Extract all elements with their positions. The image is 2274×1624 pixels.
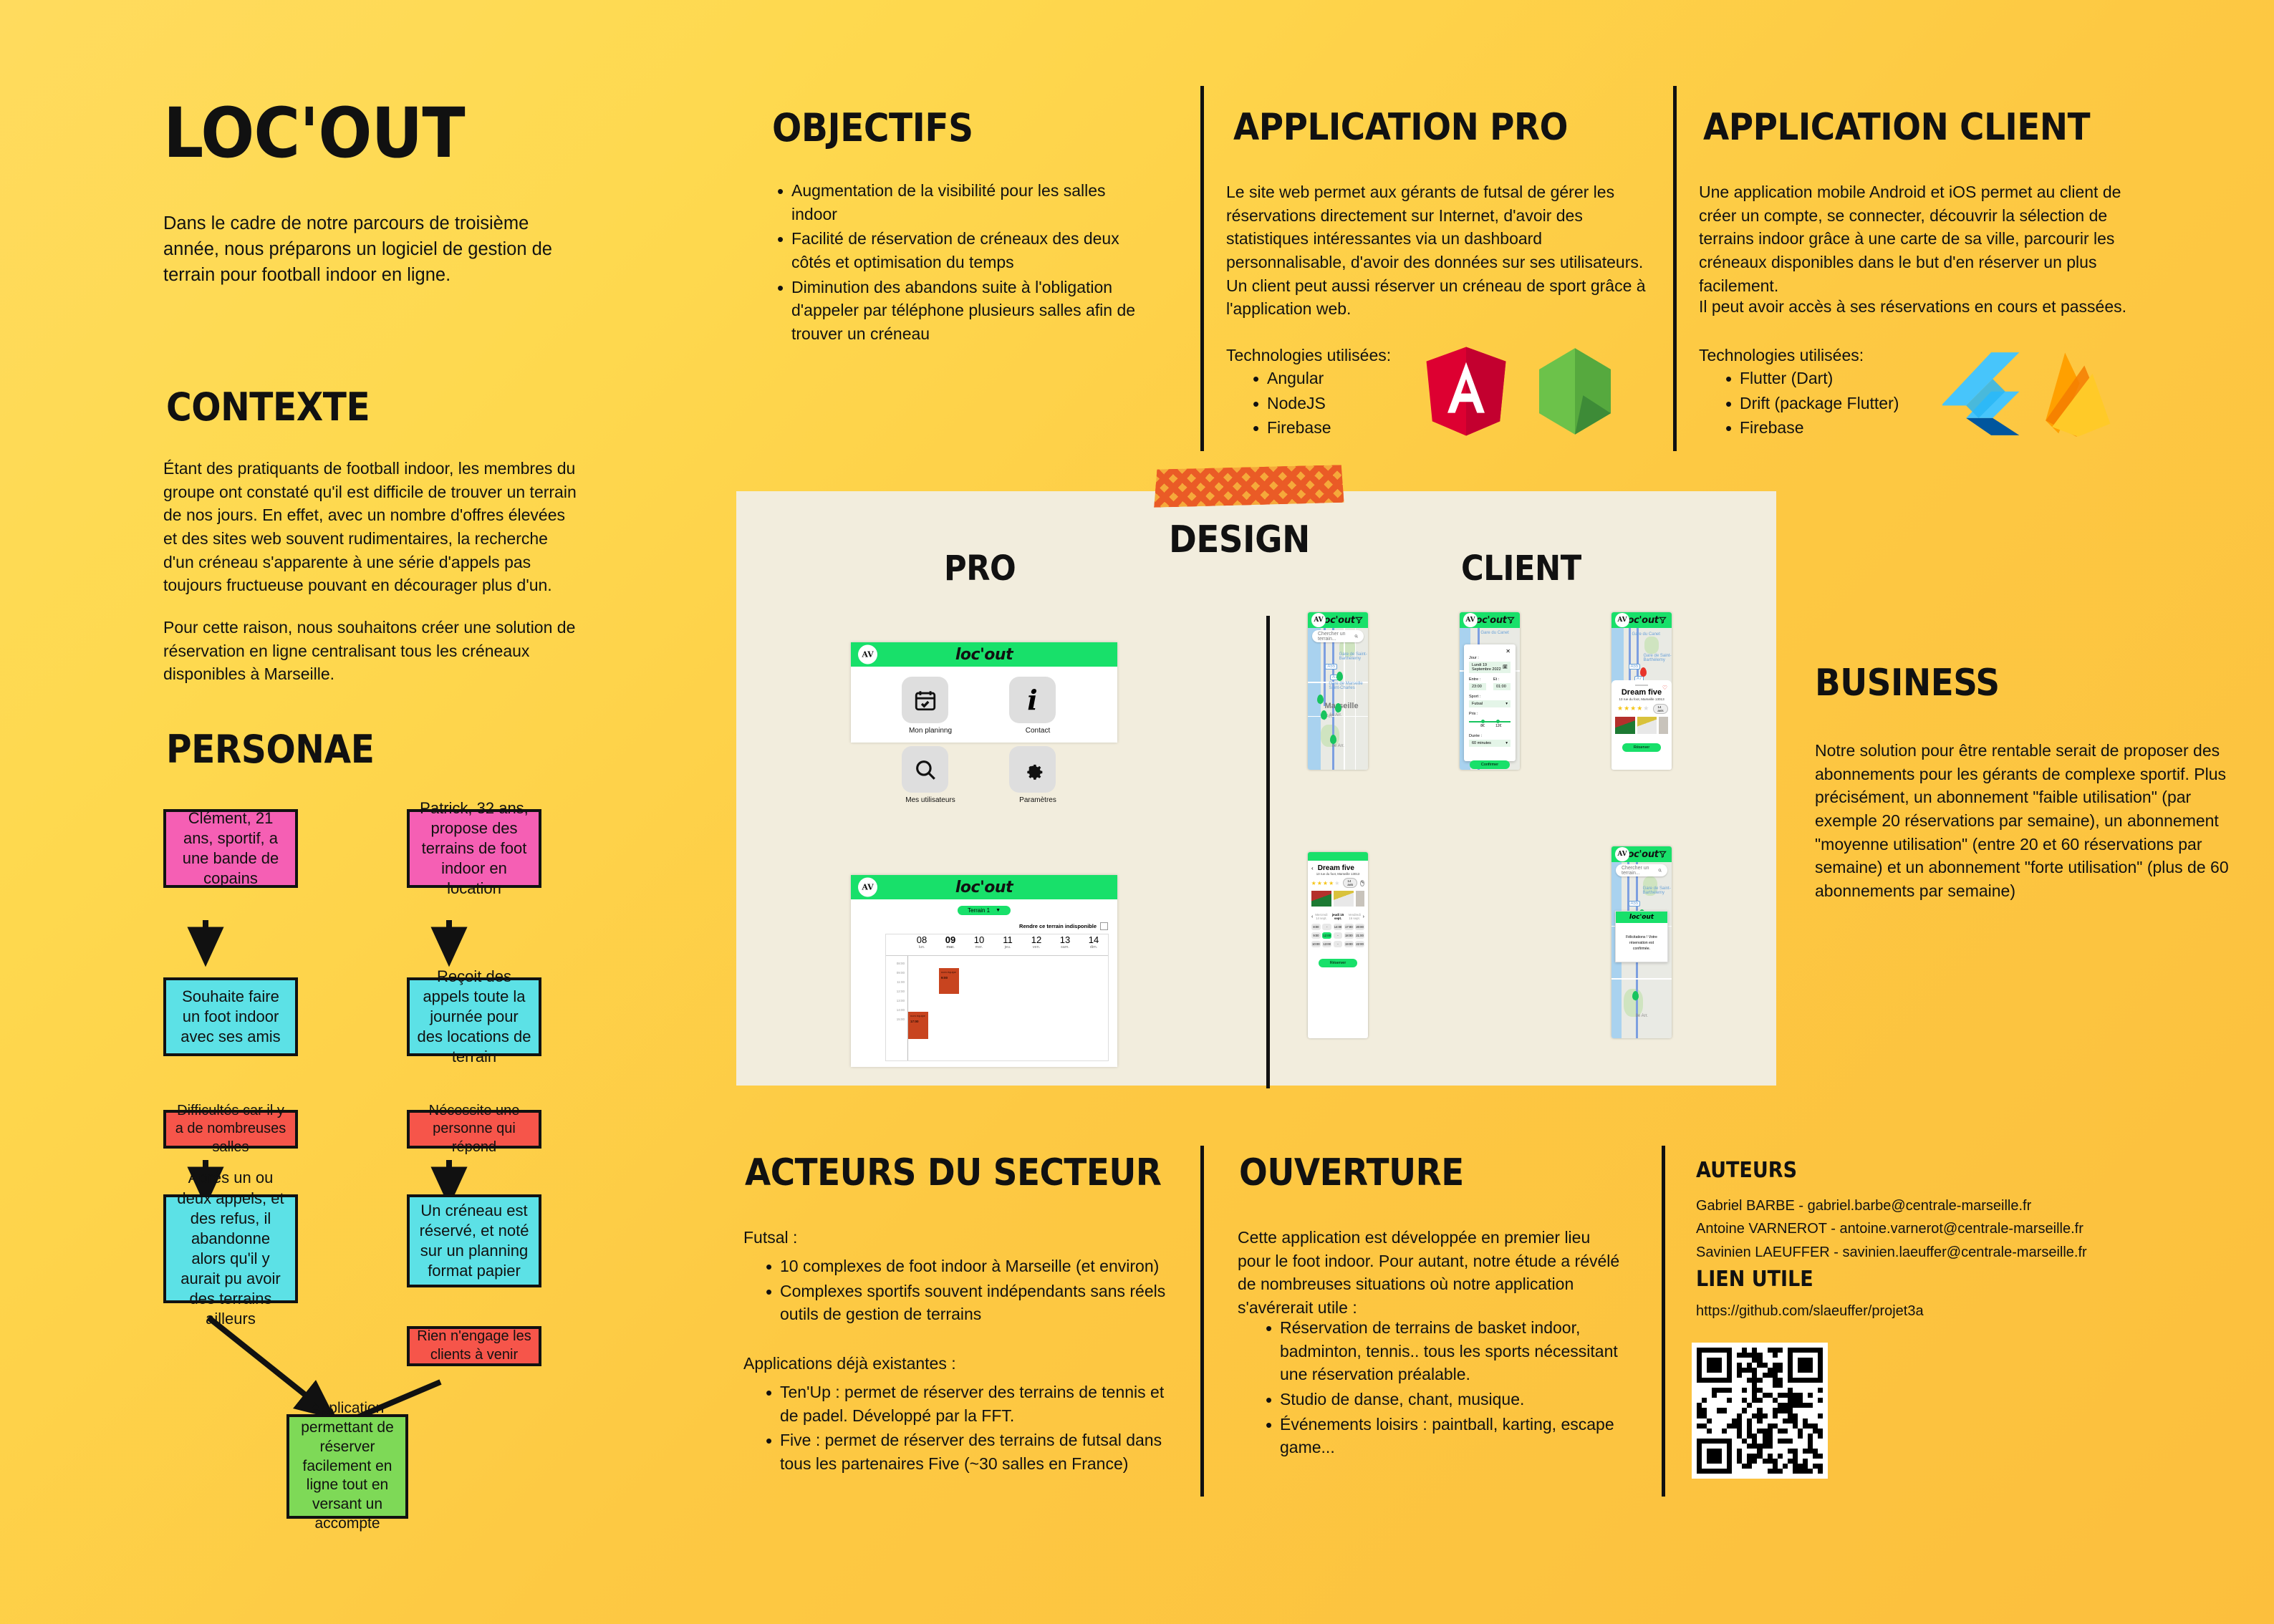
application-client-paragraph: Une application mobile Android et iOS pe…: [1699, 180, 2129, 297]
venue-book-button[interactable]: Réserver: [1622, 743, 1661, 752]
chevron-tape-decoration: [1151, 465, 1344, 508]
search-icon: [1658, 868, 1662, 873]
planning-event[interactable]: nom équipe 9:00: [939, 968, 959, 994]
filter-day-value: Lundi 19 Septembre 2022: [1472, 663, 1503, 672]
slot-button[interactable]: 17:00: [1344, 924, 1354, 930]
author-item: Savinien LAEUFFER - savinien.laeuffer@ce…: [1696, 1241, 2087, 1264]
planning-day: 11 jeu.: [993, 934, 1022, 955]
acteurs-item: Five : permet de réserver des terrains d…: [761, 1429, 1176, 1475]
business-paragraph: Notre solution pour être rentable serait…: [1815, 739, 2237, 903]
terrain-select[interactable]: Terrain 1 ▼: [958, 906, 1011, 915]
next-day-icon[interactable]: ›: [1363, 914, 1364, 919]
slots-day-selected[interactable]: jeudi 15 sept.: [1329, 913, 1346, 920]
ouverture-paragraph: Cette application est développée en prem…: [1238, 1226, 1624, 1320]
filter-and-label: Et :: [1493, 677, 1511, 682]
venue-photo[interactable]: [1659, 717, 1668, 734]
ouverture-list: Réservation de terrains de basket indoor…: [1261, 1316, 1633, 1461]
pro-planning-appbar: AV loc'out: [851, 875, 1117, 899]
planning-day: 08 lun.: [907, 934, 936, 955]
slots-day[interactable]: Vendredi 16 sept.: [1346, 913, 1363, 920]
favorite-heart-icon[interactable]: ♡: [1662, 685, 1667, 691]
filter-dialog: ✕ Jour : Lundi 19 Septembre 2022 🗓 Entre…: [1464, 644, 1516, 761]
tile-label: Contact: [1009, 727, 1066, 735]
divider: [1673, 86, 1677, 451]
venue-photo[interactable]: [1615, 717, 1635, 734]
slot-button[interactable]: 19:00: [1344, 941, 1354, 947]
calendar-check-icon: [902, 677, 948, 723]
venue-name: Dream five: [1615, 688, 1668, 697]
slot-button[interactable]: 8:00: [1311, 924, 1321, 930]
client-appbar: AV loc'out: [1308, 612, 1368, 628]
application-client-tech-list: Flutter (Dart) Drift (package Flutter) F…: [1720, 367, 1957, 441]
pro-home-mockup: AV loc'out Mon planinng i Contact: [851, 642, 1117, 743]
tech-item: Firebase: [1720, 416, 1957, 440]
persona-box: Reçoit des appels toute la journée pour …: [407, 977, 541, 1056]
filter-day-input[interactable]: Lundi 19 Septembre 2022 🗓: [1469, 662, 1511, 673]
search-input[interactable]: Chercher un terrain...: [1616, 864, 1667, 876]
price-max: 12€: [1495, 724, 1501, 728]
star-rating-icon: ★★★★★: [1311, 880, 1341, 886]
poster-root: LOC'OUT Dans le cadre de notre parcours …: [0, 0, 2274, 1624]
slot-button[interactable]: 20:00: [1355, 924, 1364, 930]
business-heading: BUSINESS: [1815, 664, 2000, 702]
pro-tile-contact[interactable]: i Contact: [1009, 677, 1066, 735]
venue-photos: [1311, 891, 1364, 907]
page-title: LOC'OUT: [163, 99, 491, 168]
tech-item: Drift (package Flutter): [1720, 392, 1957, 415]
objectifs-heading: OBJECTIFS: [772, 109, 973, 148]
angular-logo-icon: [1424, 347, 1508, 436]
persona-box: Nécessite une personne qui répond: [407, 1110, 541, 1149]
avatar: AV: [1615, 847, 1629, 861]
divider: [1200, 1146, 1204, 1497]
filter-day-label: Jour :: [1469, 656, 1511, 660]
slots-day[interactable]: Mercredi 14 sept.: [1313, 913, 1329, 920]
chevron-down-icon: ▾: [1505, 702, 1508, 706]
persona-box: Rien n'engage les clients à venir: [407, 1326, 541, 1366]
acteurs-subheading-2: Applications déjà existantes :: [743, 1352, 956, 1376]
design-client-label: CLIENT: [1461, 551, 1581, 586]
slot-button[interactable]: 13:00: [1322, 941, 1331, 947]
acteurs-list-2: Ten'Up : permet de réserver des terrains…: [761, 1381, 1176, 1477]
persona-box: Un créneau est réservé, et noté sur un p…: [407, 1194, 541, 1287]
ouverture-heading: OUVERTURE: [1239, 1154, 1464, 1192]
client-appbar: AV loc'out: [1611, 612, 1672, 628]
pro-home-appbar: AV loc'out: [851, 642, 1117, 667]
dialog-title: loc'out: [1616, 912, 1667, 923]
divider: [1200, 86, 1204, 451]
auteurs-list: Gabriel BARBE - gabriel.barbe@centrale-m…: [1696, 1194, 2087, 1264]
price-slider[interactable]: 8€ 12€: [1469, 719, 1511, 726]
slot-button[interactable]: 9:00: [1311, 932, 1321, 939]
persona-outcome-box: Application permettant de réserver facil…: [286, 1414, 408, 1519]
persona-box: Après un ou deux appels, et des refus, i…: [163, 1194, 298, 1303]
filter-between-label: Entre :: [1469, 677, 1486, 682]
checkbox-label: Rendre ce terrain indisponible: [1019, 923, 1097, 929]
intro-paragraph: Dans le cadre de notre parcours de trois…: [163, 211, 579, 289]
slot-button[interactable]: 21:00: [1355, 932, 1364, 939]
slot-button[interactable]: -: [1334, 941, 1343, 947]
objectifs-list: Augmentation de la visibilité pour les s…: [772, 179, 1137, 347]
lien-utile-heading: LIEN UTILE: [1696, 1269, 1813, 1290]
venue-sheet: ♡ Dream five 13 rue du foot, Marseille 1…: [1611, 680, 1672, 770]
client-appbar: AV loc'out: [1460, 612, 1520, 628]
slots-grid: 8:00 - 14:00 17:00 20:00 9:00 12:00 - 18…: [1311, 924, 1364, 947]
acteurs-list-1: 10 complexes de foot indoor à Marseille …: [761, 1255, 1176, 1328]
map-pin[interactable]: [1321, 710, 1327, 720]
map-pin[interactable]: [1330, 735, 1336, 744]
application-client-paragraph-2: Il peut avoir accès à ses réservations e…: [1699, 295, 2143, 319]
map-pin-selected[interactable]: [1640, 667, 1647, 677]
planning-day: 10 mer.: [965, 934, 993, 955]
persona-box: Clément, 21 ans, sportif, a une bande de…: [163, 809, 298, 888]
app-logo: loc'out: [955, 646, 1013, 664]
filter-sport-select[interactable]: Futsal ▾: [1469, 700, 1511, 707]
flutter-logo-icon: [1942, 351, 2021, 437]
venue-reviews-badge[interactable]: 14 avis: [1653, 704, 1667, 714]
avatar: AV: [1463, 613, 1478, 627]
filter-confirm-button[interactable]: Confirmer: [1470, 760, 1510, 769]
venue-photo[interactable]: [1334, 891, 1354, 907]
planning-day: 13 sam.: [1051, 934, 1079, 955]
filter-icon[interactable]: [1659, 617, 1667, 624]
planning-day-header: 08 lun. 09 mar. 10 mer. 11 jeu.: [886, 934, 1108, 956]
terrain-select-value: Terrain 1: [968, 907, 990, 914]
filter-duration-label: Durée :: [1469, 734, 1511, 738]
slot-button[interactable]: 14:00: [1334, 924, 1343, 930]
chevron-down-icon: ▾: [1505, 741, 1508, 745]
client-venue-phone: AV loc'out Gare du Canet Gare de Saint-B…: [1611, 612, 1672, 770]
tile-label: Mon planinng: [902, 727, 959, 735]
slot-button[interactable]: 22:00: [1355, 941, 1364, 947]
calendar-icon: 🗓: [1503, 665, 1508, 670]
venue-photos: [1615, 717, 1668, 734]
filter-icon[interactable]: [1355, 617, 1363, 624]
design-heading: DESIGN: [1169, 521, 1310, 559]
persona-box: Difficultés car il y a de nombreuses sal…: [163, 1110, 298, 1149]
personae-heading: PERSONAE: [166, 730, 374, 769]
persona-box: Patrick, 32 ans, propose des terrains de…: [407, 809, 541, 888]
avatar: AV: [858, 878, 877, 897]
ouverture-item: Événements loisirs : paintball, karting,…: [1261, 1413, 1633, 1459]
ouverture-item: Studio de danse, chant, musique.: [1261, 1388, 1633, 1411]
chevron-down-icon: ▼: [996, 908, 1001, 913]
venue-photo[interactable]: [1311, 891, 1331, 907]
tech-item: Flutter (Dart): [1720, 367, 1957, 390]
filter-duration-value: 60 minutes: [1472, 741, 1491, 745]
app-logo: loc'out: [1624, 849, 1658, 860]
persona-box: Souhaite faire un foot indoor avec ses a…: [163, 977, 298, 1056]
price-min: 8€: [1480, 724, 1485, 728]
filter-duration-select[interactable]: 60 minutes ▾: [1469, 740, 1511, 747]
venue-photo[interactable]: [1356, 891, 1364, 907]
application-pro-paragraph: Le site web permet aux gérants de futsal…: [1226, 180, 1656, 321]
search-placeholder: Chercher un terrain...: [1622, 866, 1658, 876]
search-icon: [1354, 634, 1358, 639]
slots-book-button[interactable]: Réserver: [1319, 959, 1357, 967]
contexte-paragraph-2: Pour cette raison, nous souhaitons créer…: [163, 616, 579, 686]
pro-tile-mon-planning[interactable]: Mon planinng: [902, 677, 959, 735]
planning-day: 09 mar.: [936, 934, 965, 955]
author-item: Antoine VARNEROT - antoine.varnerot@cent…: [1696, 1217, 2087, 1240]
acteurs-heading: ACTEURS DU SECTEUR: [745, 1154, 1161, 1192]
client-appbar: AV loc'out: [1611, 846, 1672, 862]
planning-day: 14 dim.: [1079, 934, 1108, 955]
terrain-unavailable-checkbox[interactable]: Rendre ce terrain indisponible: [1019, 922, 1108, 930]
slot-button[interactable]: -: [1334, 932, 1343, 939]
client-appbar: [1308, 852, 1368, 861]
client-slots-phone: ‹ Dream five 13 rue du foot, Marseille 1…: [1308, 852, 1368, 1038]
edit-pencil-icon[interactable]: ✎: [1360, 880, 1364, 886]
close-icon[interactable]: ✕: [1469, 649, 1511, 654]
venue-name: Dream five: [1314, 864, 1359, 872]
app-logo: loc'out: [1321, 615, 1354, 626]
objectifs-item: Facilité de réservation de créneaux des …: [772, 227, 1137, 274]
filter-between-input[interactable]: 23:00: [1469, 683, 1486, 690]
gear-icon: [1009, 746, 1056, 793]
tile-label: Mes utilisateurs: [902, 796, 959, 804]
star-rating-icon: ★★★★★: [1617, 705, 1649, 712]
firebase-logo-icon: [2034, 349, 2119, 438]
project-link[interactable]: https://github.com/slaeuffer/projet3a: [1696, 1303, 1924, 1320]
venue-reviews-badge[interactable]: 14 avis: [1343, 878, 1357, 888]
application-pro-tech-label: Technologies utilisées:: [1226, 344, 1391, 367]
filter-icon[interactable]: [1659, 851, 1667, 859]
filter-and-input[interactable]: 01:00: [1493, 683, 1511, 690]
checkbox-box[interactable]: [1100, 922, 1108, 930]
venue-photo[interactable]: [1637, 717, 1657, 734]
poster-title: LOC'OUT: [163, 99, 465, 168]
divider: [1662, 1146, 1665, 1497]
pro-tile-parametres[interactable]: Paramètres: [1009, 746, 1066, 804]
app-logo: loc'out: [1624, 615, 1658, 626]
slot-button-selected[interactable]: 12:00: [1322, 932, 1331, 939]
application-client-heading: APPLICATION CLIENT: [1703, 109, 2090, 146]
slot-button[interactable]: 18:00: [1344, 932, 1354, 939]
avatar: AV: [858, 645, 877, 664]
app-logo: loc'out: [1473, 615, 1506, 626]
dialog-message: Félicitations ! Votre réservation est co…: [1616, 923, 1667, 962]
acteurs-subheading-1: Futsal :: [743, 1226, 797, 1250]
app-logo: loc'out: [955, 879, 1013, 896]
filter-sport-value: Futsal: [1472, 702, 1483, 706]
venue-address: 13 rue du foot, Marseille 13013: [1615, 697, 1668, 701]
tile-label: Paramètres: [1009, 796, 1066, 804]
search-placeholder: Chercher un terrain...: [1318, 632, 1354, 642]
contexte-heading: CONTEXTE: [166, 388, 370, 427]
info-icon: i: [1009, 677, 1056, 723]
pro-planning-mockup: AV loc'out Terrain 1 ▼ Rendre ce terrain…: [851, 875, 1117, 1067]
planning-hours: 08:00 09:00 11:00 12:00 13:00 14:00 15:0…: [886, 956, 907, 1060]
objectifs-item: Diminution des abandons suite à l'obliga…: [772, 276, 1137, 346]
application-client-tech-label: Technologies utilisées:: [1699, 344, 1864, 367]
application-pro-heading: APPLICATION PRO: [1233, 109, 1568, 146]
venue-address: 13 rue du foot, Marseille 13013: [1311, 872, 1364, 876]
planning-event[interactable]: nom équipe 17:00: [908, 1012, 928, 1039]
ouverture-item: Réservation de terrains de basket indoor…: [1261, 1316, 1633, 1386]
contexte-paragraph-1: Étant des pratiquants de football indoor…: [163, 457, 579, 597]
qr-code[interactable]: [1692, 1343, 1828, 1479]
author-item: Gabriel BARBE - gabriel.barbe@centrale-m…: [1696, 1194, 2087, 1217]
filter-price-label: Prix :: [1469, 712, 1511, 716]
acteurs-item: Ten'Up : permet de réserver des terrains…: [761, 1381, 1176, 1427]
acteurs-item: 10 complexes de foot indoor à Marseille …: [761, 1255, 1176, 1278]
objectifs-item: Augmentation de la visibilité pour les s…: [772, 179, 1137, 226]
avatar: AV: [1311, 613, 1326, 627]
planning-day: 12 ven.: [1022, 934, 1051, 955]
pro-tile-mes-utilisateurs[interactable]: Mes utilisateurs: [902, 746, 959, 804]
design-divider: [1266, 616, 1270, 1088]
slot-button[interactable]: -: [1322, 924, 1331, 930]
search-icon: [902, 746, 948, 793]
map-view[interactable]: Gare du Canet Gare de Saint-Barthélemy G…: [1308, 628, 1368, 770]
filter-icon[interactable]: [1507, 617, 1515, 624]
map-pin[interactable]: [1336, 672, 1343, 681]
acteurs-item: Complexes sportifs souvent indépendants …: [761, 1280, 1176, 1326]
slot-button[interactable]: 10:00: [1311, 941, 1321, 947]
client-confirm-phone: AV loc'out Gare du Canet Gare de Saint-B…: [1611, 846, 1672, 1038]
qr-code-grid: [1697, 1348, 1823, 1474]
auteurs-heading: AUTEURS: [1696, 1160, 1797, 1181]
map-pin[interactable]: [1335, 703, 1341, 712]
search-input[interactable]: Chercher un terrain...: [1312, 630, 1364, 642]
client-map-phone: AV loc'out Gare du Canet Gare de Saint-B…: [1308, 612, 1368, 770]
avatar: AV: [1615, 613, 1629, 627]
confirm-dialog: loc'out Félicitations ! Votre réservatio…: [1615, 911, 1668, 962]
nodejs-logo-icon: [1533, 347, 1617, 436]
filter-sport-label: Sport :: [1469, 695, 1511, 699]
design-pro-label: PRO: [944, 551, 1016, 586]
client-filter-phone: AV loc'out Gare du Canet ✕ Jour : Lundi …: [1460, 612, 1520, 770]
